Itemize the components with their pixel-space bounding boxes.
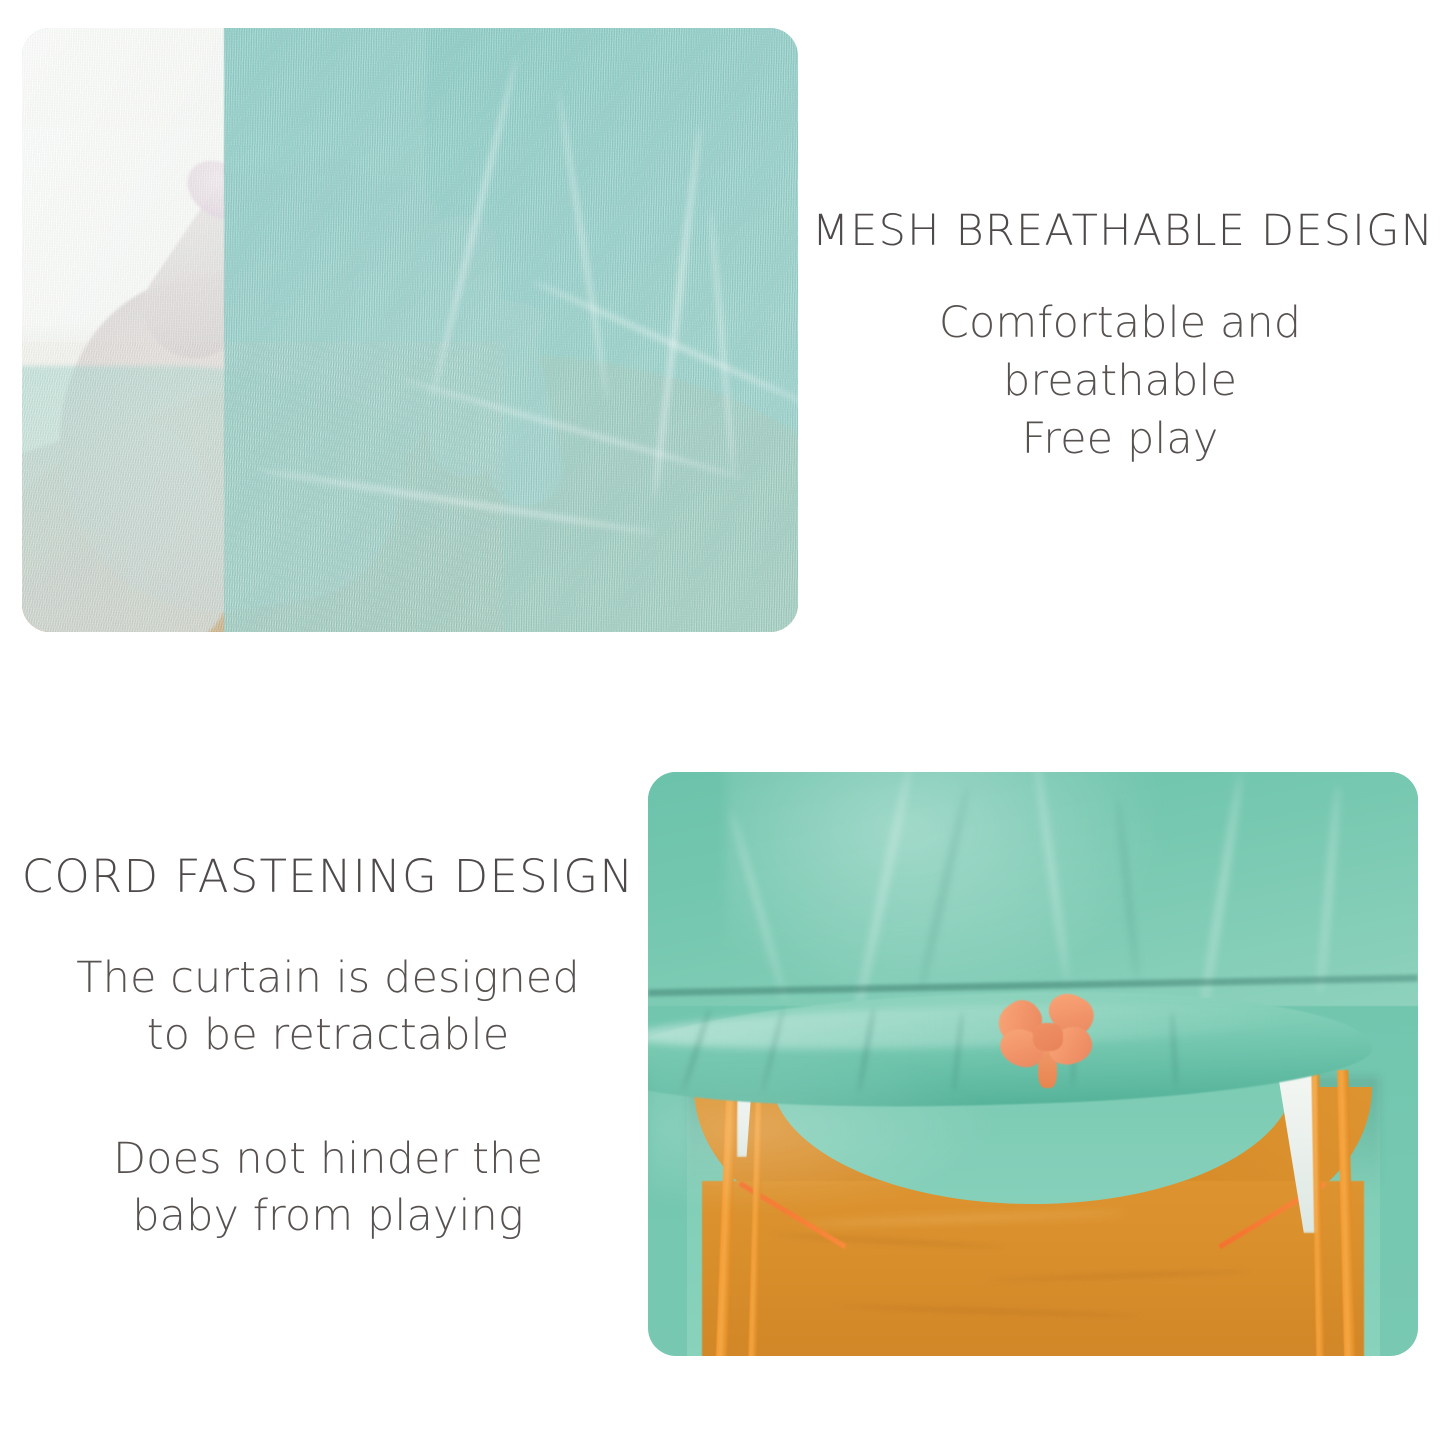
cord-body-paragraph-2: Does not hinder the baby from playing — [18, 1131, 638, 1246]
mesh-breathable-photo — [22, 28, 798, 632]
cord-fastening-photo — [648, 772, 1418, 1356]
mesh-body-line-3: Free play — [812, 411, 1428, 469]
tan-weave-texture — [22, 342, 503, 632]
mesh-heading: MESH BREATHABLE DESIGN — [812, 208, 1428, 255]
mesh-body-line-1: Comfortable and — [812, 295, 1428, 353]
mesh-text-block: MESH BREATHABLE DESIGN Comfortable and b… — [812, 208, 1428, 468]
orange-bow-tie — [998, 991, 1098, 1084]
tent-sheen — [648, 1041, 1002, 1216]
cord-body-line-2: to be retractable — [18, 1007, 638, 1065]
cord-body-paragraph-1: The curtain is designed to be retractabl… — [18, 950, 638, 1065]
cord-heading: CORD FASTENING DESIGN — [18, 852, 638, 902]
cord-body-line-4: baby from playing — [18, 1188, 638, 1246]
infographic-canvas: MESH BREATHABLE DESIGN Comfortable and b… — [0, 0, 1445, 1445]
cord-body-line-1: The curtain is designed — [18, 950, 638, 1008]
cord-body-line-3: Does not hinder the — [18, 1131, 638, 1189]
cord-text-block: CORD FASTENING DESIGN The curtain is des… — [18, 852, 638, 1246]
bow-knot — [1033, 1023, 1063, 1051]
mesh-body-line-2: breathable — [812, 353, 1428, 411]
mesh-body: Comfortable and breathable Free play — [812, 295, 1428, 468]
